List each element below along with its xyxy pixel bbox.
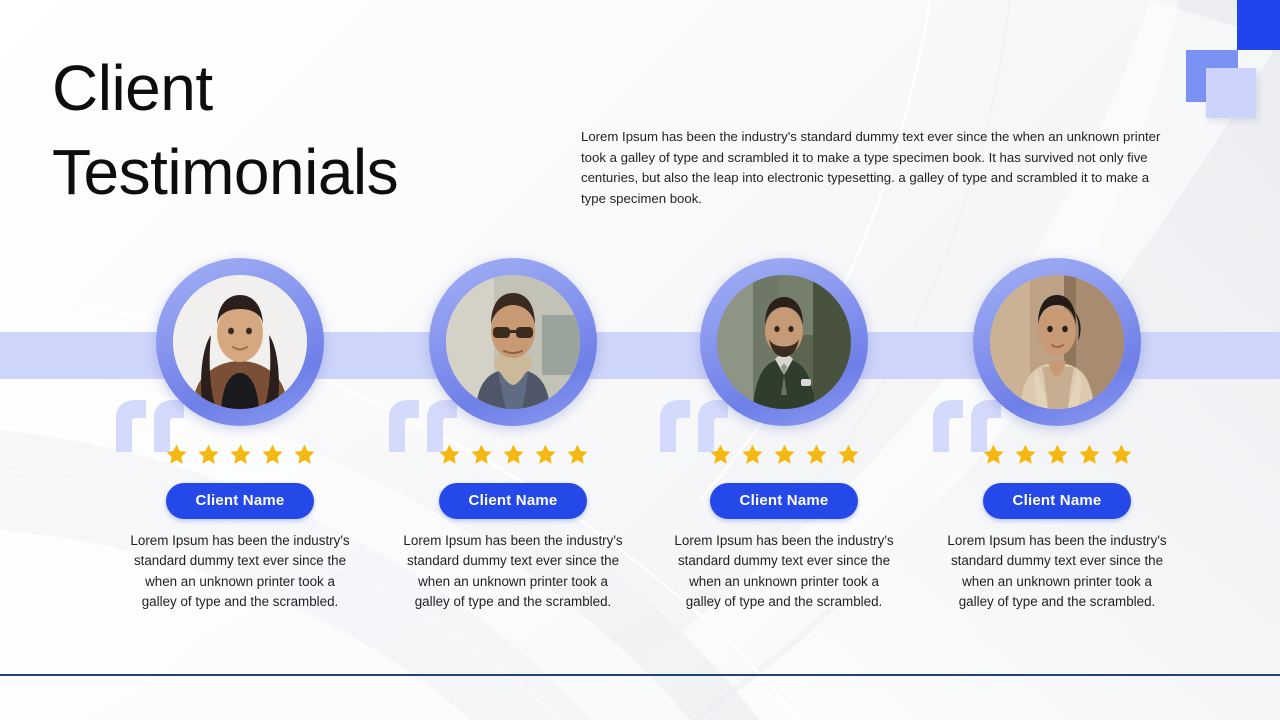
avatar-photo [717,275,851,409]
star-icon [502,443,525,466]
star-icon [229,443,252,466]
avatar [700,258,868,426]
avatar [973,258,1141,426]
star-icon [773,443,796,466]
testimonial-card[interactable]: Client Name Lorem Ipsum has been the ind… [377,258,649,612]
star-icon [805,443,828,466]
client-name-button[interactable]: Client Name [439,483,587,519]
avatar-photo [446,275,580,409]
star-icon [470,443,493,466]
star-icon [261,443,284,466]
client-name-button[interactable]: Client Name [166,483,314,519]
star-icon [534,443,557,466]
testimonial-text: Lorem Ipsum has been the industry's stan… [402,531,624,612]
testimonial-text: Lorem Ipsum has been the industry's stan… [129,531,351,612]
star-icon [837,443,860,466]
star-icon [1110,443,1133,466]
star-icon [293,443,316,466]
client-name-button[interactable]: Client Name [710,483,858,519]
star-icon [741,443,764,466]
avatar [156,258,324,426]
avatar [429,258,597,426]
slide-canvas: Client Testimonials Lorem Ipsum has been… [0,0,1280,720]
star-icon [1046,443,1069,466]
testimonial-card[interactable]: Client Name Lorem Ipsum has been the ind… [104,258,376,612]
client-name-button[interactable]: Client Name [983,483,1131,519]
testimonial-card-list: Client Name Lorem Ipsum has been the ind… [0,0,1280,720]
avatar-photo [173,275,307,409]
testimonial-card[interactable]: Client Name Lorem Ipsum has been the ind… [921,258,1193,612]
star-icon [197,443,220,466]
testimonial-text: Lorem Ipsum has been the industry's stan… [946,531,1168,612]
star-icon [1078,443,1101,466]
star-icon [566,443,589,466]
star-icon [1014,443,1037,466]
bottom-divider [0,674,1280,676]
avatar-photo [990,275,1124,409]
testimonial-text: Lorem Ipsum has been the industry's stan… [673,531,895,612]
testimonial-card[interactable]: Client Name Lorem Ipsum has been the ind… [648,258,920,612]
